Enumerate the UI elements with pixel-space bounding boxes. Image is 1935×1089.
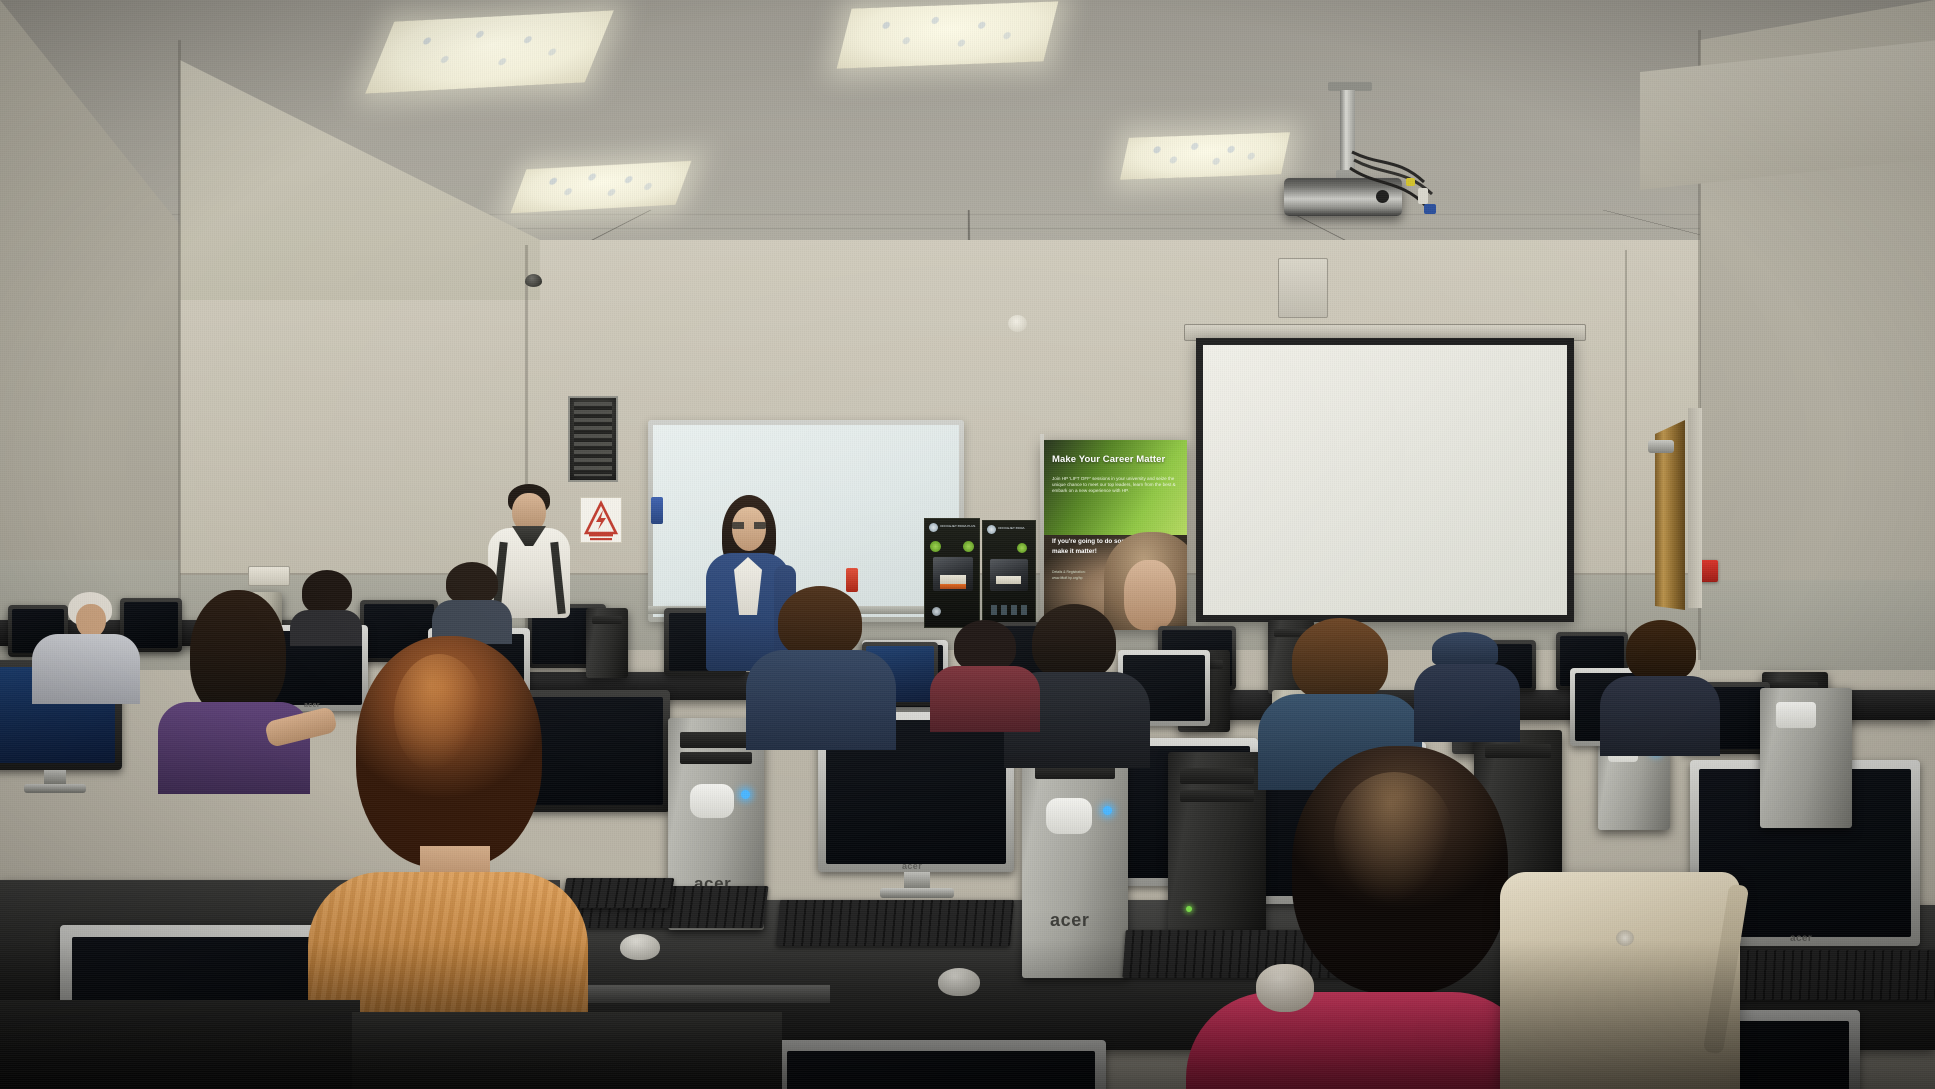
- hp-roll-up-banner: Make Your Career Matter Join HP 'LIFT OF…: [1042, 440, 1187, 630]
- student-orange-hair-highlight: [394, 654, 484, 774]
- mouse-1[interactable]: [620, 934, 660, 960]
- power-socket: [248, 566, 290, 586]
- student-maroon-hair: [954, 620, 1016, 672]
- printer-box-left: OFFICEJET 6500A PLUS: [924, 518, 980, 628]
- marker-holder[interactable]: [651, 497, 663, 524]
- ceiling-light-1: [365, 10, 614, 93]
- desk-foreground-left: [0, 1000, 360, 1089]
- printer-accent-strip: [940, 584, 966, 589]
- right-wall-wainscot: [1700, 580, 1935, 670]
- student-blue-cap: [1412, 632, 1522, 740]
- plush-keychain: [1256, 964, 1314, 1012]
- projector-cables: [1346, 148, 1456, 218]
- dome-camera-icon: [525, 274, 542, 287]
- student-purple-hair: [190, 590, 286, 718]
- student-navy-shirt: [740, 586, 900, 746]
- door-closer: [1648, 440, 1674, 453]
- student-blue-cap-torso: [1414, 664, 1520, 742]
- student-navy-hair: [778, 586, 862, 658]
- wall-vent-grille: [568, 396, 618, 482]
- banner-headline: Make Your Career Matter: [1052, 455, 1180, 466]
- student-maroon-torso: [930, 666, 1040, 732]
- keyboard-front-2[interactable]: [776, 900, 1014, 946]
- speaker-box: [1278, 258, 1328, 318]
- projection-screen-surface: [1203, 345, 1567, 615]
- classroom-photo: Make Your Career Matter Join HP 'LIFT OF…: [0, 0, 1935, 1089]
- student-teal-hair: [1292, 618, 1388, 702]
- fire-call-point[interactable]: [1700, 560, 1718, 582]
- door-jamb: [1688, 408, 1702, 608]
- student-beige-coat: [1600, 620, 1720, 750]
- student-back-left-small: [288, 570, 364, 642]
- printer-model-label-2: OFFICEJET 6500A: [998, 526, 1025, 530]
- keyboard-front-4[interactable]: [1711, 950, 1935, 1000]
- printer-product-image-2: [990, 559, 1028, 591]
- eco-badge-3: [1017, 543, 1027, 553]
- presenter-glasses-icon: [732, 522, 766, 529]
- tower-back-2: [586, 608, 628, 678]
- ceiling-light-3: [837, 1, 1059, 68]
- student-back-center-hair: [446, 562, 498, 604]
- banner-body-text: Join HP 'LIFT OFF' sessions in your univ…: [1052, 476, 1178, 494]
- printer-paper-tray: [940, 575, 966, 584]
- desk-foreground-center: [352, 1012, 782, 1089]
- high-voltage-icon: [581, 498, 621, 542]
- student-maroon-top: [930, 620, 1040, 730]
- student-beige-torso: [1600, 676, 1720, 756]
- projection-screen[interactable]: [1196, 338, 1574, 622]
- student-navy-torso: [746, 650, 896, 750]
- hp-logo-icon: [929, 523, 938, 532]
- ceiling-light-2: [510, 161, 691, 213]
- printer-model-label: OFFICEJET 6500A PLUS: [940, 524, 975, 528]
- hp-logo-icon-2: [987, 525, 996, 534]
- student-beige-hair: [1626, 620, 1696, 682]
- monitor-front-4[interactable]: [776, 1040, 1106, 1089]
- student-cap-icon: [1432, 632, 1498, 666]
- ceiling-light-4: [1120, 132, 1290, 180]
- tower-right-silver: [1760, 688, 1852, 828]
- student-dark-hair: [1032, 604, 1116, 680]
- student-back-left-hair: [302, 570, 352, 614]
- eco-badge-2: [963, 541, 974, 552]
- student-pink-torso: [1186, 992, 1538, 1089]
- tote-bag: [1500, 872, 1740, 1089]
- smoke-detector-icon: [1008, 315, 1027, 332]
- student-pink-hair-sheen: [1334, 772, 1454, 904]
- student-pink-top: [1208, 746, 1538, 1089]
- tower-sticker: [690, 784, 734, 818]
- eco-badge: [930, 541, 941, 552]
- energy-star-icon: [932, 607, 941, 616]
- ceiling-projector: [1280, 82, 1450, 214]
- high-voltage-sign: [580, 497, 622, 543]
- printer-paper-tray-2: [996, 576, 1021, 584]
- student-grey-hoodie: [24, 592, 144, 702]
- student-back-center: [432, 562, 512, 642]
- presenter-face: [732, 507, 766, 551]
- mouse-2[interactable]: [938, 968, 980, 996]
- tote-bag-clasp: [1616, 930, 1634, 946]
- student-grey-face: [76, 604, 106, 638]
- tower-sticker-2: [1046, 798, 1092, 834]
- tower-brand-label-2: acer: [1050, 910, 1089, 931]
- student-grey-torso: [32, 634, 140, 704]
